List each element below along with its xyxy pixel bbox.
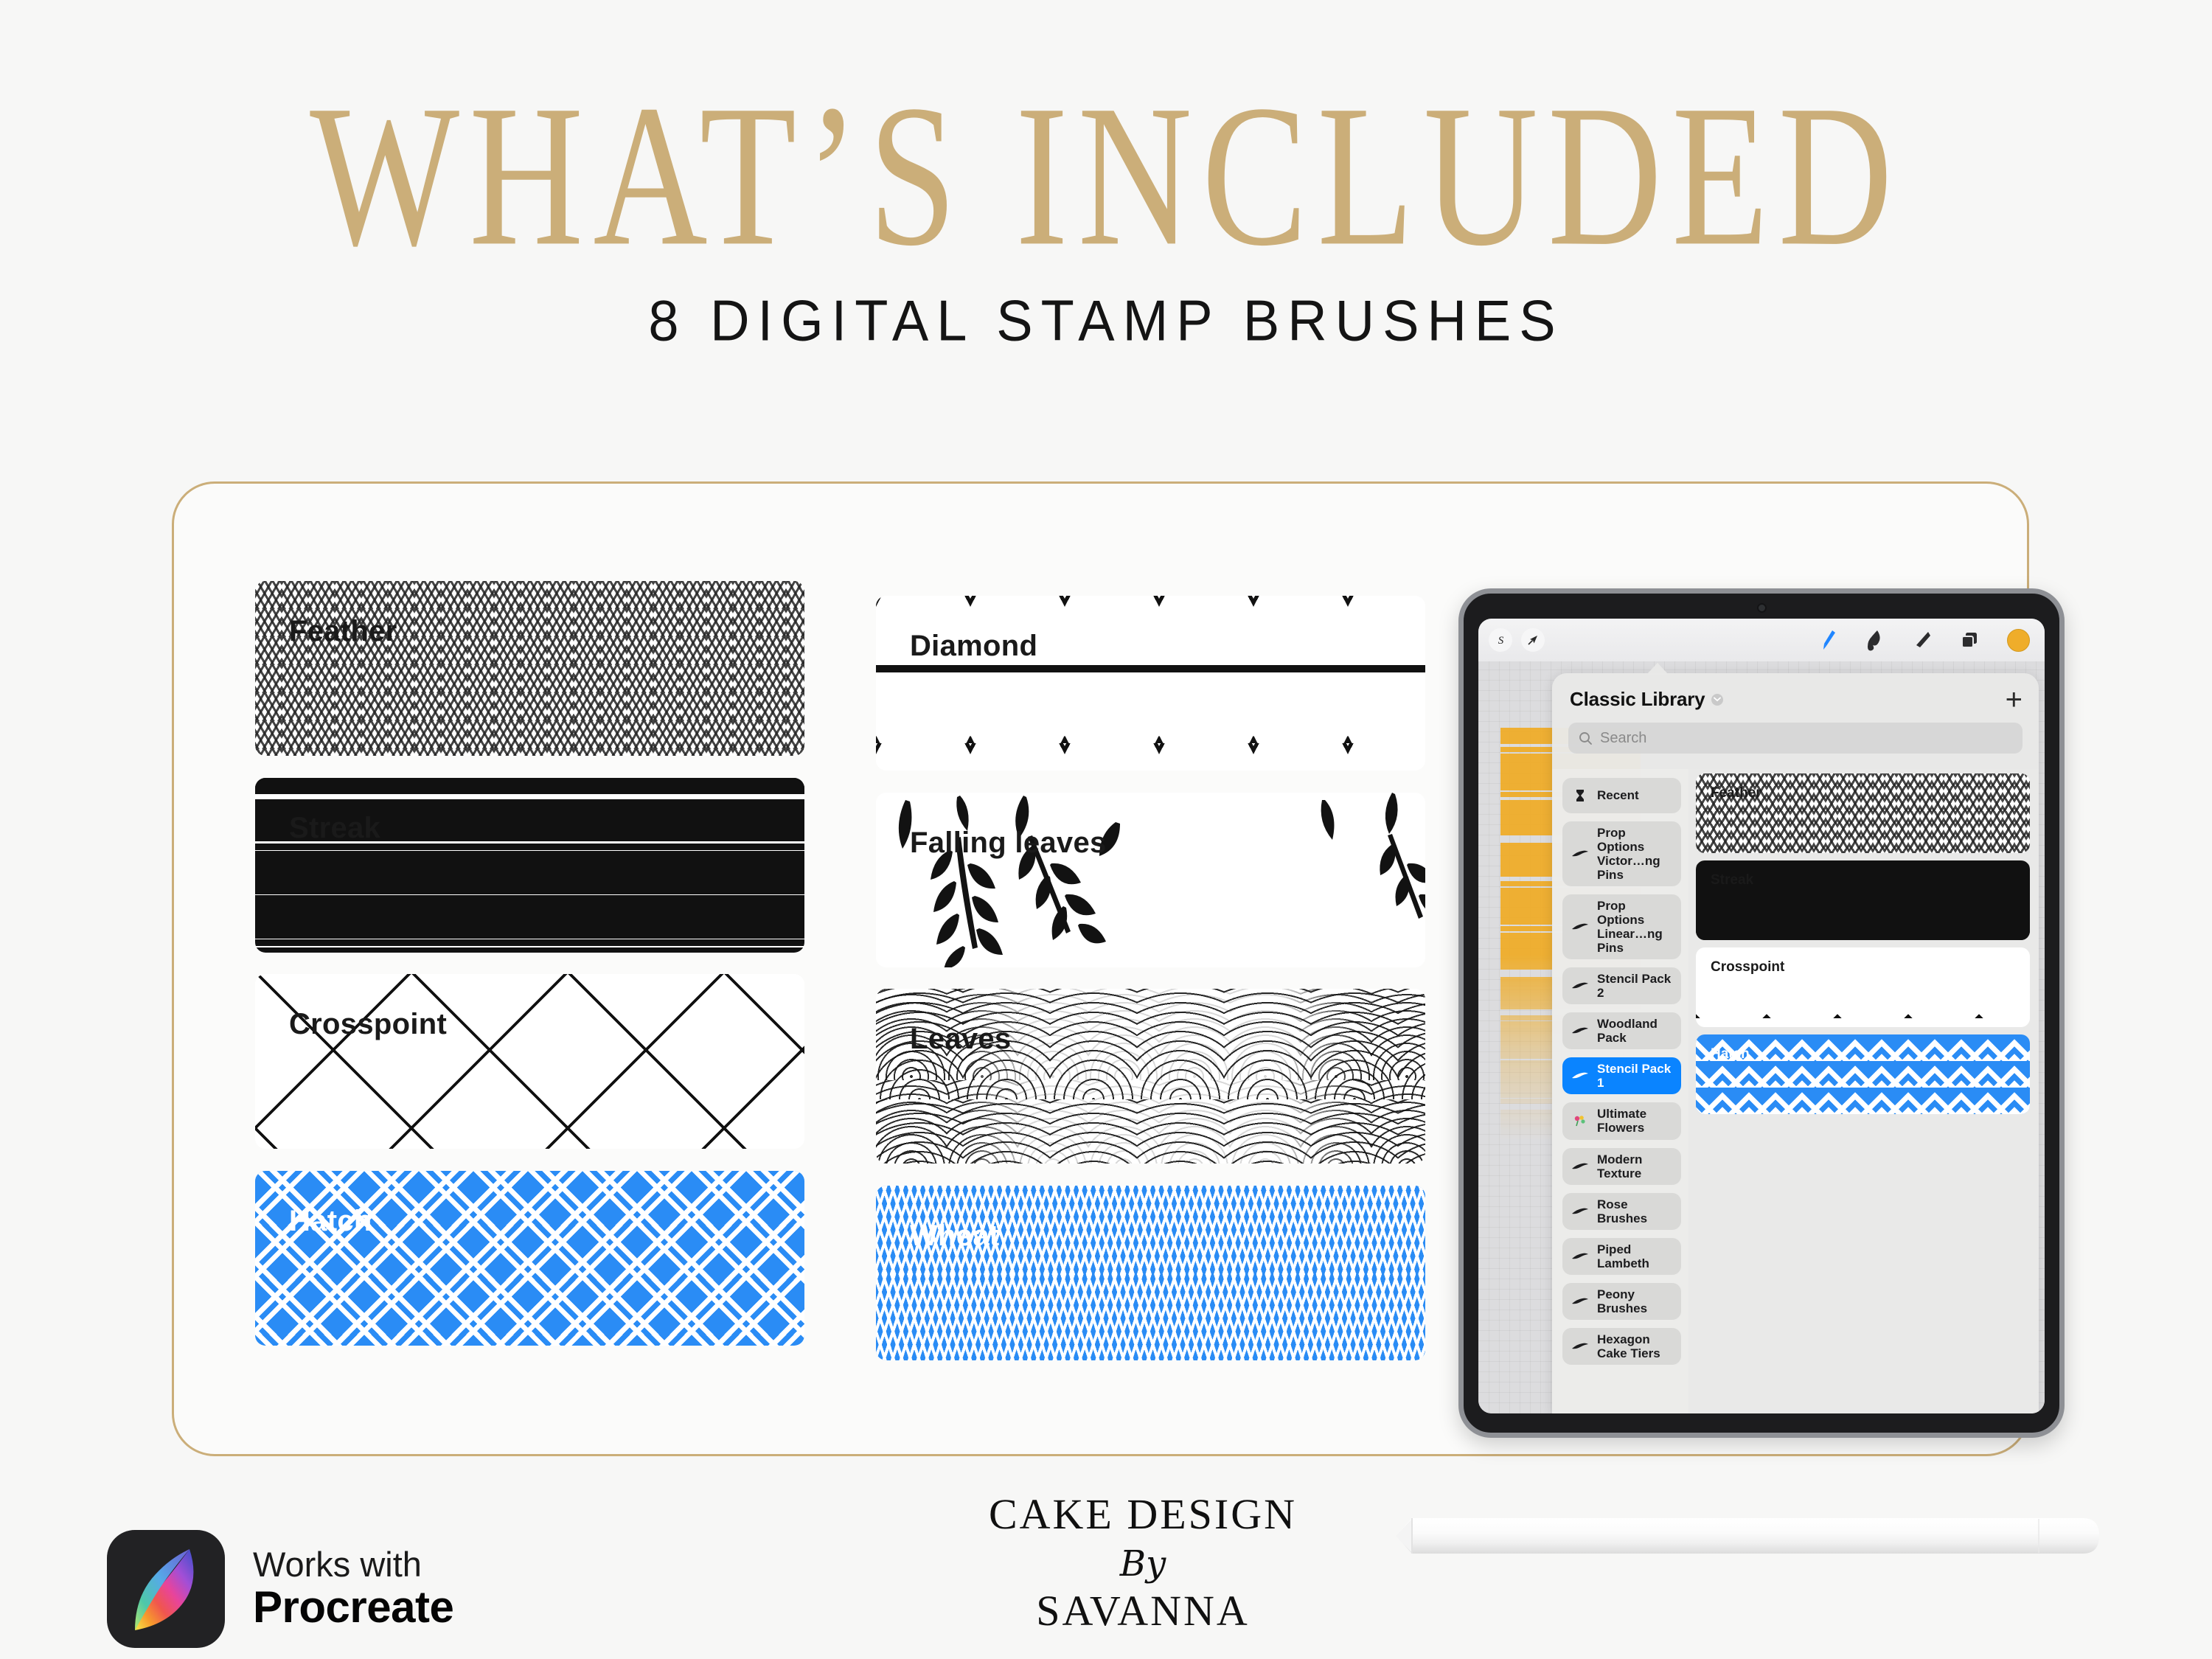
sidebar-item-label: Prop Options Linear…ng Pins [1597, 899, 1675, 955]
popover-caret [1646, 663, 1669, 675]
brush-swatch-falling-leaves[interactable]: Falling leaves [876, 793, 1425, 967]
sidebar-item-rose-brushes[interactable]: Rose Brushes [1562, 1193, 1681, 1230]
search-input[interactable]: Search [1568, 723, 2023, 754]
sidebar-item-label: Woodland Pack [1597, 1017, 1675, 1045]
procreate-toolbar: S [1478, 619, 2045, 661]
ipad-screen: S [1478, 619, 2045, 1413]
brush-preview-label: Hatch [1711, 1046, 1750, 1062]
chevron-down-icon[interactable] [1711, 694, 1723, 706]
sidebar-item-woodland-pack[interactable]: Woodland Pack [1562, 1012, 1681, 1049]
search-icon [1579, 731, 1593, 745]
brush-swatch-label: Hatch [289, 1205, 372, 1238]
sidebar-item-label: Hexagon Cake Tiers [1597, 1332, 1675, 1360]
page-subtitle: 8 DIGITAL STAMP BRUSHES [0, 288, 2212, 353]
brush-swatch-hatch[interactable]: Hatch [255, 1171, 804, 1346]
brush-preview-streak[interactable]: Streak [1696, 860, 2030, 940]
brush-stroke-icon [1571, 849, 1590, 858]
works-with-text-block: Works with Procreate [253, 1546, 453, 1632]
sidebar-item-label: Stencil Pack 2 [1597, 972, 1675, 1000]
hourglass-icon [1571, 789, 1590, 803]
brush-swatch-feather[interactable]: Feather [255, 581, 804, 756]
brush-preview-list[interactable]: Feather Streak Crosspoint Hatch [1688, 769, 2039, 1413]
procreate-label: Procreate [253, 1584, 453, 1632]
sidebar-item-piped-lambeth[interactable]: Piped Lambeth [1562, 1238, 1681, 1275]
front-camera-icon [1757, 603, 1767, 613]
brush-preview-label: Streak [1711, 872, 1753, 888]
leaves-pattern-overlay [876, 989, 1425, 1164]
brush-swatch-wheat[interactable]: Wheat [876, 1186, 1425, 1360]
add-brush-button[interactable]: + [2006, 689, 2023, 710]
sidebar-item-hexagon-cake-tiers[interactable]: Hexagon Cake Tiers [1562, 1328, 1681, 1365]
brush-swatch-label: Leaves [910, 1023, 1011, 1056]
popover-title: Classic Library [1570, 688, 1705, 711]
brush-swatch-label: Crosspoint [289, 1008, 447, 1041]
sidebar-item-label: Recent [1597, 788, 1639, 802]
brush-stroke-icon [1571, 1162, 1590, 1171]
brush-stroke-icon [1571, 922, 1590, 931]
brush-preview-hatch[interactable]: Hatch [1696, 1034, 2030, 1114]
brush-stroke-icon [1571, 1071, 1590, 1080]
brush-stroke-icon [1571, 981, 1590, 990]
brush-library-popover: Classic Library + Search Recent [1552, 673, 2039, 1413]
crosspoint-pattern [255, 974, 804, 1149]
brush-stroke-icon [1571, 1252, 1590, 1261]
eraser-icon[interactable] [1913, 629, 1933, 651]
layers-icon[interactable] [1960, 629, 1980, 651]
transform-arrow-icon[interactable] [1521, 628, 1545, 652]
sidebar-item-modern-texture[interactable]: Modern Texture [1562, 1148, 1681, 1185]
procreate-logo-icon [107, 1530, 225, 1648]
ipad-device: S [1458, 588, 2065, 1438]
brush-swatch-label: Falling leaves [910, 827, 1107, 860]
sidebar-item-label: Prop Options Victor…ng Pins [1597, 826, 1675, 882]
works-with-label: Works with [253, 1546, 453, 1584]
sidebar-item-label: Piped Lambeth [1597, 1242, 1675, 1270]
page-title: WHAT’S INCLUDED [0, 74, 2212, 276]
apple-pencil [1353, 1514, 2105, 1559]
brush-preview-feather[interactable]: Feather [1696, 773, 2030, 853]
popover-header: Classic Library + [1552, 673, 2039, 715]
streak-pattern [255, 778, 804, 953]
brush-preview-label: Crosspoint [1711, 959, 1784, 975]
brush-swatch-label: Wheat [910, 1220, 1000, 1253]
brush-swatch-streak[interactable]: Streak [255, 778, 804, 953]
wheat-pattern [876, 1186, 1425, 1360]
diamond-pattern [876, 596, 1425, 771]
sidebar-item-stencil-pack-2[interactable]: Stencil Pack 2 [1562, 967, 1681, 1004]
search-placeholder: Search [1600, 730, 1646, 747]
brand-line-3: SAVANNA [981, 1586, 1305, 1635]
brand-signature: CAKE DESIGN By SAVANNA [981, 1489, 1305, 1635]
paint-brush-icon[interactable] [1818, 629, 1839, 651]
brand-line-1: CAKE DESIGN [981, 1489, 1305, 1539]
sidebar-item-stencil-pack-1[interactable]: Stencil Pack 1 [1562, 1057, 1681, 1094]
sidebar-item-label: Ultimate Flowers [1597, 1107, 1675, 1135]
sidebar-item-recent[interactable]: Recent [1562, 778, 1681, 813]
brush-swatch-label: Streak [289, 812, 380, 845]
color-swatch[interactable] [2007, 629, 2030, 652]
falling-leaves-pattern [876, 793, 1425, 967]
brush-preview-crosspoint[interactable]: Crosspoint [1696, 947, 2030, 1027]
brush-swatch-label: Diamond [910, 630, 1037, 663]
sidebar-item-ultimate-flowers[interactable]: Ultimate Flowers [1562, 1102, 1681, 1139]
brush-stroke-icon [1571, 1026, 1590, 1035]
brush-library-sidebar[interactable]: Recent Prop Options Victor…ng Pins Prop … [1552, 769, 1688, 1413]
popover-body: Recent Prop Options Victor…ng Pins Prop … [1552, 769, 2039, 1413]
brush-swatch-diamond[interactable]: Diamond [876, 596, 1425, 771]
flowers-icon [1571, 1114, 1590, 1127]
hatch-pattern [255, 1171, 804, 1346]
sidebar-item-label: Stencil Pack 1 [1597, 1062, 1675, 1090]
svg-text:S: S [1498, 635, 1503, 647]
brush-stroke-icon [1571, 1342, 1590, 1351]
brush-swatch-leaves[interactable]: Leaves [876, 989, 1425, 1164]
gallery-s-icon[interactable]: S [1489, 628, 1512, 652]
smudge-icon[interactable] [1865, 629, 1886, 651]
sidebar-item-prop-options-linear-pins[interactable]: Prop Options Linear…ng Pins [1562, 894, 1681, 959]
sidebar-item-label: Peony Brushes [1597, 1287, 1675, 1315]
sidebar-item-prop-options-victorian-pins[interactable]: Prop Options Victor…ng Pins [1562, 821, 1681, 886]
brush-swatch-crosspoint[interactable]: Crosspoint [255, 974, 804, 1149]
brush-swatch-label: Feather [289, 615, 397, 648]
brush-stroke-icon [1571, 1207, 1590, 1216]
sidebar-item-label: Rose Brushes [1597, 1197, 1675, 1225]
brush-preview-label: Feather [1711, 785, 1761, 801]
sidebar-item-label: Modern Texture [1597, 1152, 1675, 1180]
brush-stroke-icon [1571, 1297, 1590, 1306]
sidebar-item-peony-brushes[interactable]: Peony Brushes [1562, 1283, 1681, 1320]
feather-pattern [255, 581, 804, 756]
works-with-procreate-badge: Works with Procreate [107, 1530, 453, 1648]
brand-line-2: By [981, 1543, 1305, 1585]
